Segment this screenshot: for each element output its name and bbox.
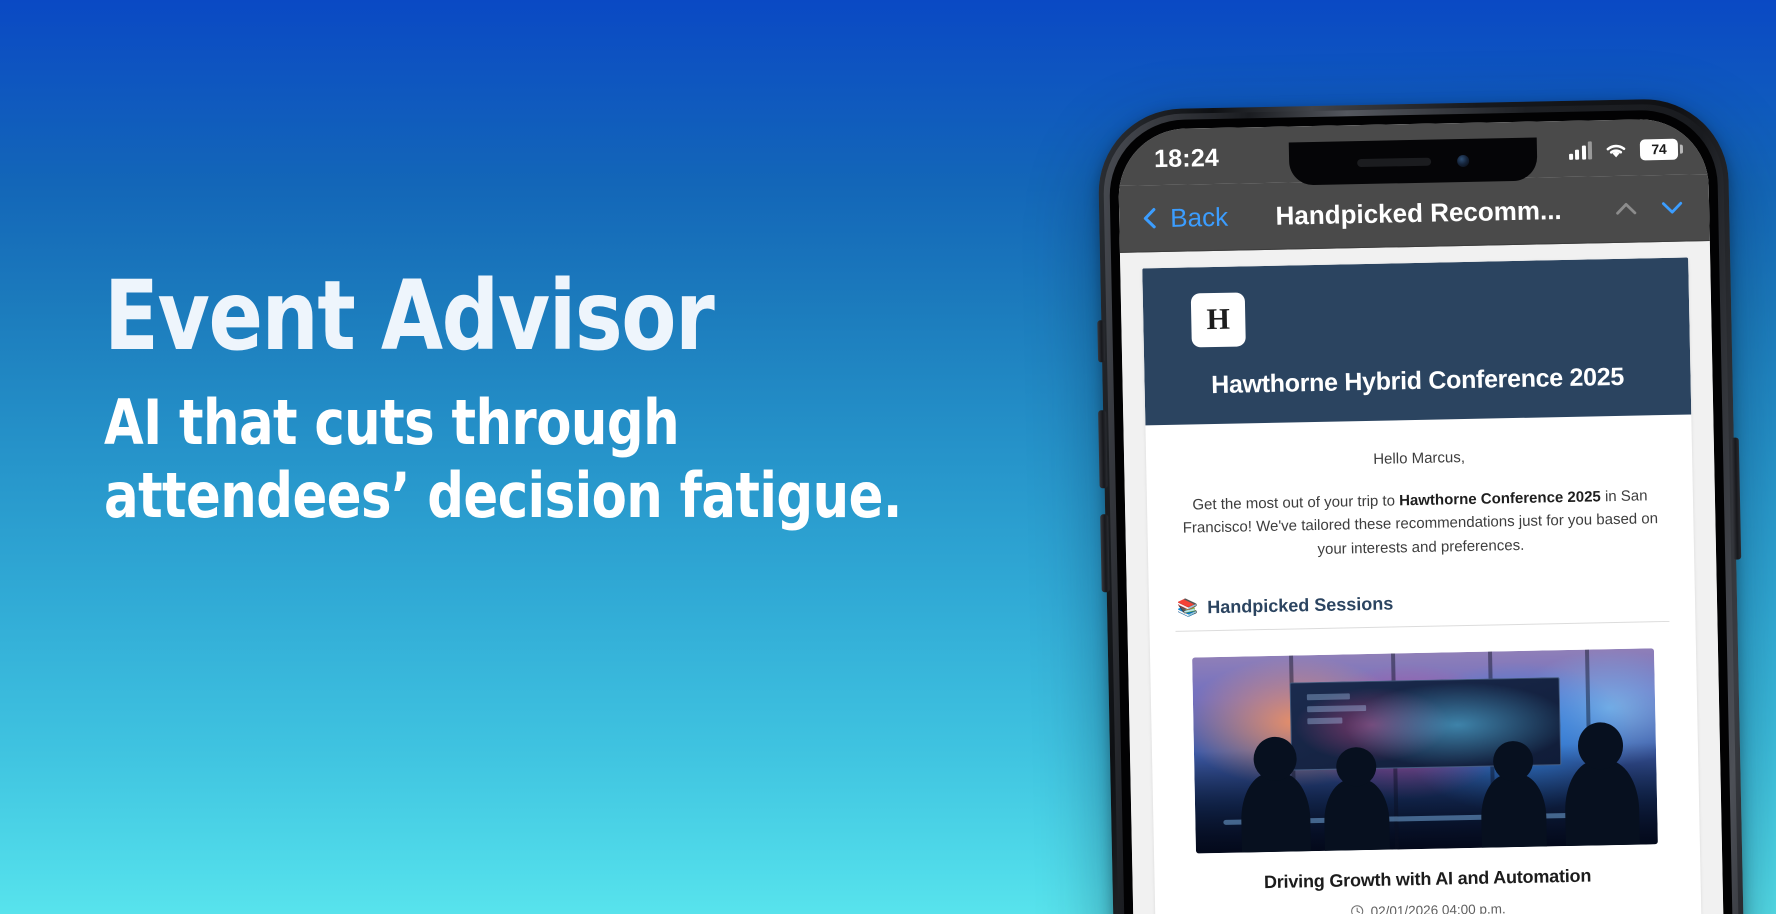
email-card: H Hawthorne Hybrid Conference 2025 Hello… bbox=[1142, 257, 1704, 914]
session-datetime: 02/01/2026 04:00 p.m. bbox=[1197, 898, 1659, 914]
status-bar-clock: 18:24 bbox=[1154, 139, 1220, 173]
page-title: Event Advisor bbox=[104, 268, 885, 364]
books-icon: 📚 bbox=[1177, 599, 1199, 616]
conference-name: Hawthorne Hybrid Conference 2025 bbox=[1168, 362, 1666, 401]
session-datetime-label: 02/01/2026 04:00 p.m. bbox=[1370, 901, 1505, 914]
email-body: Hello Marcus, Get the most out of your t… bbox=[1145, 414, 1704, 914]
earpiece-speaker-icon bbox=[1357, 157, 1431, 166]
clock-icon bbox=[1350, 904, 1364, 914]
intro-pre: Get the most out of your trip to bbox=[1192, 492, 1399, 513]
mail-subject-title: Handpicked Recomm... bbox=[1228, 194, 1604, 233]
volume-down-button[interactable] bbox=[1100, 514, 1110, 592]
phone-screen: 18:24 74 bbox=[1117, 118, 1729, 914]
status-bar-indicators: 74 bbox=[1568, 132, 1678, 164]
intro-paragraph: Get the most out of your trip to Hawthor… bbox=[1173, 484, 1668, 564]
hero-copy: Event Advisor AI that cuts through atten… bbox=[104, 268, 944, 532]
front-camera-icon bbox=[1457, 154, 1469, 166]
mail-nav-bar: Back Handpicked Recomm... bbox=[1119, 174, 1710, 253]
section-title-label: Handpicked Sessions bbox=[1207, 593, 1393, 618]
session-card: Driving Growth with AI and Automation 02… bbox=[1176, 622, 1679, 914]
silent-switch-button[interactable] bbox=[1097, 320, 1105, 362]
chevron-up-icon[interactable] bbox=[1613, 195, 1640, 222]
back-button-label: Back bbox=[1170, 201, 1228, 233]
volume-up-button[interactable] bbox=[1098, 410, 1108, 488]
wifi-icon bbox=[1603, 137, 1630, 164]
email-scroll-area[interactable]: H Hawthorne Hybrid Conference 2025 Hello… bbox=[1120, 241, 1729, 914]
message-pager bbox=[1603, 195, 1686, 223]
hero-subtitle-line-2: attendees’ decision fatigue. bbox=[104, 459, 877, 532]
brand-logo: H bbox=[1191, 292, 1246, 347]
notch bbox=[1289, 138, 1538, 186]
hero-subtitle-line-1: AI that cuts through bbox=[104, 386, 877, 459]
back-button[interactable]: Back bbox=[1137, 201, 1228, 234]
phone-mockup: 18:24 74 bbox=[1097, 98, 1750, 914]
session-image bbox=[1192, 648, 1658, 853]
cellular-bars-icon bbox=[1568, 142, 1592, 159]
session-title: Driving Growth with AI and Automation bbox=[1196, 864, 1658, 894]
email-header: H Hawthorne Hybrid Conference 2025 bbox=[1142, 257, 1691, 425]
chevron-left-icon bbox=[1137, 205, 1164, 232]
promo-banner: Event Advisor AI that cuts through atten… bbox=[0, 0, 1776, 914]
battery-percent-label: 74 bbox=[1651, 141, 1667, 157]
greeting-text: Hello Marcus, bbox=[1172, 445, 1666, 472]
power-button[interactable] bbox=[1731, 438, 1741, 560]
chevron-down-icon[interactable] bbox=[1659, 195, 1686, 222]
intro-bold: Hawthorne Conference 2025 bbox=[1399, 488, 1601, 509]
battery-icon: 74 bbox=[1640, 138, 1678, 160]
